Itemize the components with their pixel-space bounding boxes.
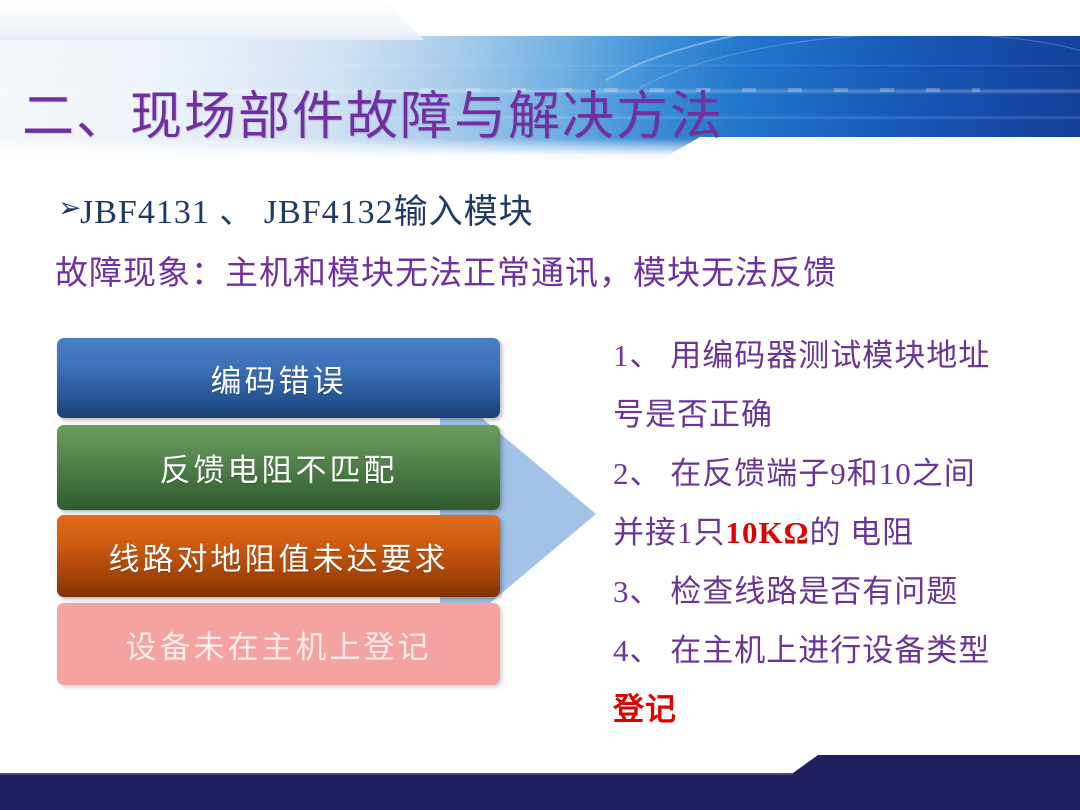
solution-line-4-highlight: 10KΩ xyxy=(726,515,810,550)
cause-box-2: 反馈电阻不匹配 xyxy=(57,425,500,510)
cause-box-4-label: 设备未在主机上登记 xyxy=(126,622,432,667)
solution-list: 1、 用编码器测试模块地址 号是否正确 2、 在反馈端子9和10之间 并接1只1… xyxy=(613,326,1053,739)
solution-line-7: 登记 xyxy=(613,680,1053,739)
solution-line-4-pre: 并接1只 xyxy=(613,515,726,550)
solution-line-1: 1、 用编码器测试模块地址 xyxy=(613,326,1053,385)
footer-sheen xyxy=(0,773,793,775)
slide-footer xyxy=(0,755,1080,810)
solution-line-2: 号是否正确 xyxy=(613,385,1053,444)
solution-line-6: 4、 在主机上进行设备类型 xyxy=(613,621,1053,680)
solution-line-7-highlight: 登记 xyxy=(613,692,677,727)
cause-box-3: 线路对地阻值未达要求 xyxy=(57,515,500,597)
cause-box-1-label: 编码错误 xyxy=(211,356,347,401)
cause-box-1: 编码错误 xyxy=(57,338,500,418)
cause-box-2-label: 反馈电阻不匹配 xyxy=(160,445,398,490)
solution-line-5: 3、 检查线路是否有问题 xyxy=(613,562,1053,621)
banner-top-wedge-fill xyxy=(0,0,460,46)
page-title: 二、现场部件故障与解决方法 xyxy=(22,74,724,149)
symptom-description: 故障现象：主机和模块无法正常通讯，模块无法反馈 xyxy=(55,246,837,294)
bullet-label: JBF4131 、 JBF4132输入模块 xyxy=(80,184,534,233)
solution-line-4-post: 的 电阻 xyxy=(809,515,914,550)
bullet-line: ➢ JBF4131 、 JBF4132输入模块 xyxy=(58,184,534,233)
solution-line-3: 2、 在反馈端子9和10之间 xyxy=(613,444,1053,503)
solution-line-4: 并接1只10KΩ的 电阻 xyxy=(613,503,1053,562)
cause-box-3-label: 线路对地阻值未达要求 xyxy=(109,534,449,579)
footer-bar xyxy=(0,755,1080,810)
cause-box-4: 设备未在主机上登记 xyxy=(57,603,500,685)
arrow-bullet-icon: ➢ xyxy=(58,195,80,223)
